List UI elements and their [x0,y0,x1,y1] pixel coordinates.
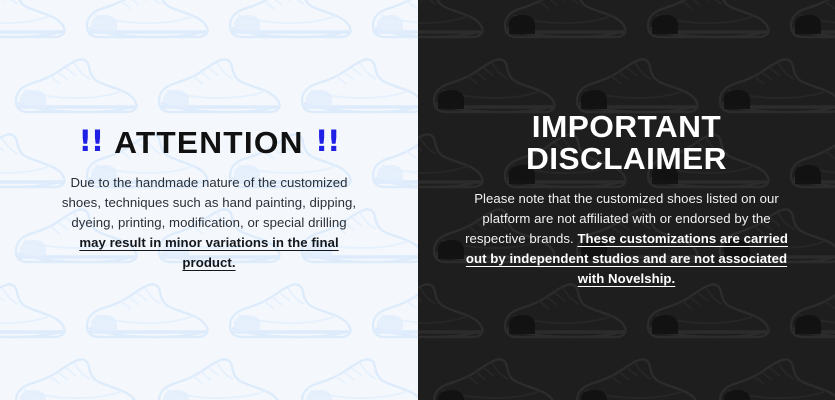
disclaimer-content: IMPORTANT DISCLAIMER Please note that th… [418,0,835,400]
disclaimer-heading-line-2: DISCLAIMER [526,143,727,175]
attention-body-normal: Due to the handmade nature of the custom… [62,175,356,230]
attention-heading-text: ATTENTION [114,127,304,158]
attention-body: Due to the handmade nature of the custom… [57,173,362,273]
attention-content: !! ATTENTION !! Due to the handmade natu… [0,0,418,400]
disclaimer-heading: IMPORTANT DISCLAIMER [528,111,725,175]
attention-bang-right: !! [315,127,339,156]
disclaimer-panel: IMPORTANT DISCLAIMER Please note that th… [418,0,835,400]
attention-heading: !! ATTENTION !! [79,127,340,158]
customization-disclaimer-banner: !! ATTENTION !! Due to the handmade natu… [0,0,835,400]
disclaimer-body: Please note that the customized shoes li… [462,189,792,289]
attention-body-emphasis: may result in minor variations in the fi… [79,235,338,270]
disclaimer-heading-line-1: IMPORTANT [526,111,727,143]
attention-bang-left: !! [79,127,103,156]
attention-panel: !! ATTENTION !! Due to the handmade natu… [0,0,418,400]
